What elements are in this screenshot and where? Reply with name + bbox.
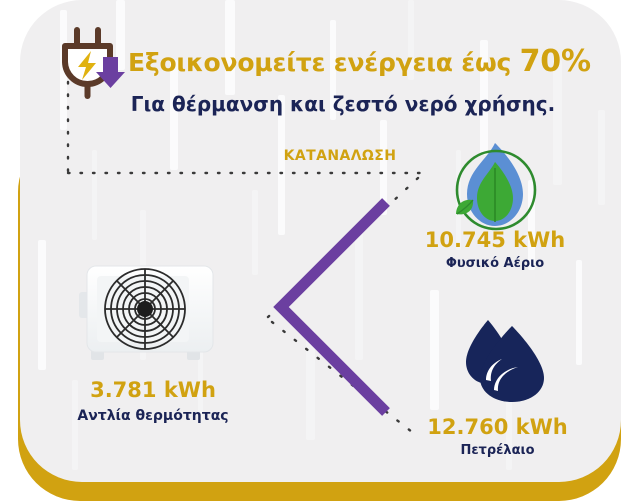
- subheadline: Για θέρμανση και ζεστό νερό χρήσης.: [128, 92, 558, 116]
- gas-flame-leaf-icon: [445, 138, 545, 238]
- plug-lightning-icon: [56, 24, 132, 96]
- consumption-label: ΚΑΤΑΝΑΛΩΣΗ: [210, 148, 470, 164]
- infographic-canvas: Εξοικονομείτε ενέργεια έως 70% Για θέρμα…: [0, 0, 641, 501]
- heat-pump-unit-icon: [75, 258, 230, 363]
- heat-pump-name: Αντλία θερμότητας: [48, 408, 258, 424]
- gas-value: 10.745 kWh: [405, 228, 585, 252]
- headline-percent: 70%: [520, 44, 591, 79]
- heat-pump-value: 3.781 kWh: [48, 378, 258, 402]
- gas-name: Φυσικό Αέριο: [405, 256, 585, 271]
- purple-chevron-connector: [265, 190, 425, 430]
- headline: Εξοικονομείτε ενέργεια έως 70%: [128, 44, 558, 79]
- oil-value: 12.760 kWh: [405, 415, 590, 439]
- headline-text: Εξοικονομείτε ενέργεια έως: [128, 48, 520, 77]
- oil-droplet-icon: [460, 316, 550, 401]
- oil-name: Πετρέλαιο: [405, 443, 590, 458]
- main-card: Εξοικονομείτε ενέργεια έως 70% Για θέρμα…: [20, 0, 621, 482]
